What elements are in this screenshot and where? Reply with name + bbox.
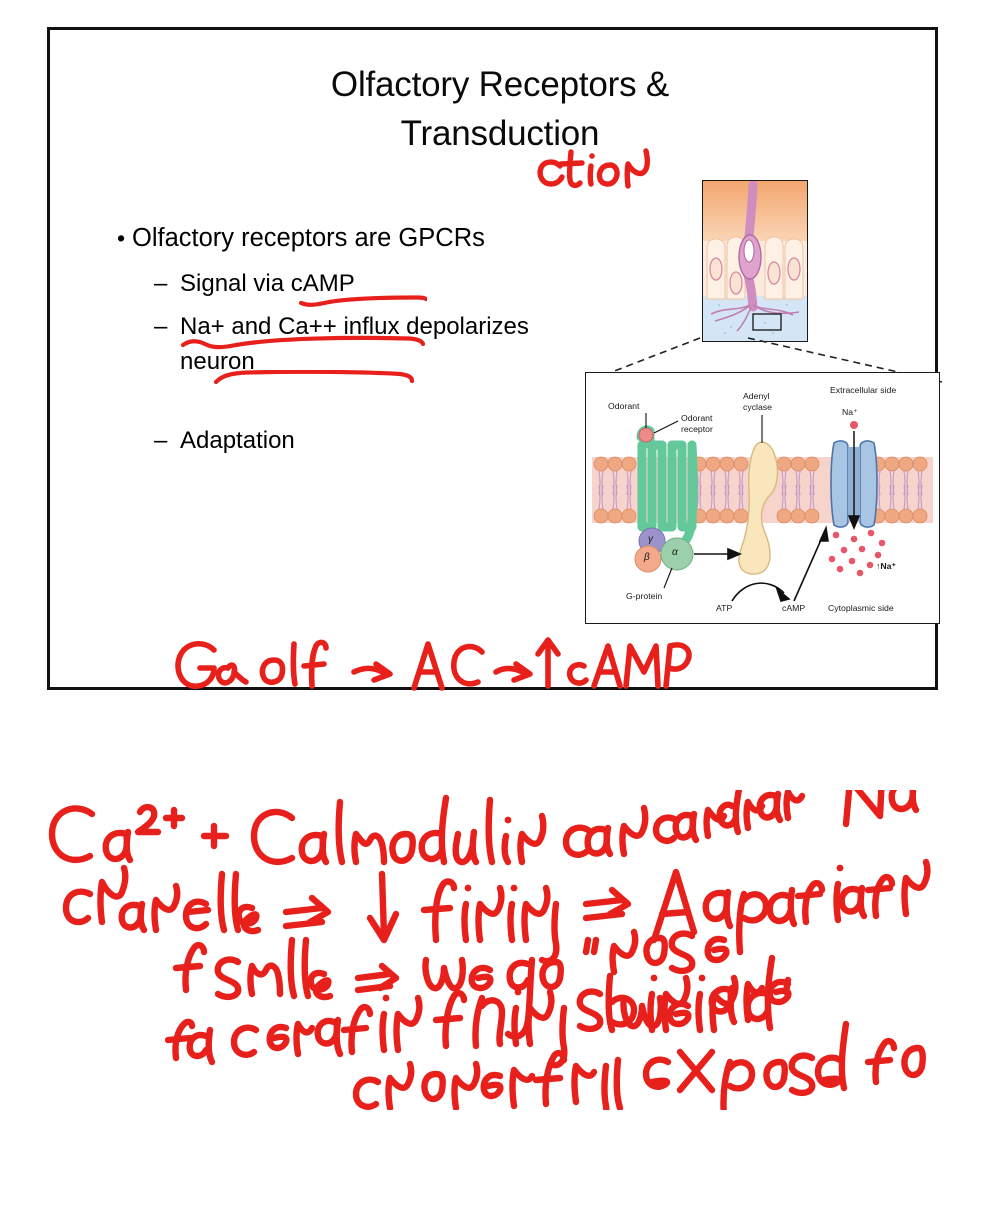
label-odorant-receptor-line2: receptor bbox=[681, 424, 713, 435]
label-g-protein: G-protein bbox=[626, 591, 662, 602]
label-atp: ATP bbox=[716, 603, 732, 614]
bullet-marker-icon: – bbox=[154, 309, 180, 379]
bullet-marker-icon: – bbox=[154, 423, 180, 458]
label-adenyl-cyclase-line1: Adenyl bbox=[743, 391, 770, 402]
olfactory-epithelium-image bbox=[702, 180, 808, 342]
bullet-item-influx: – Na+ and Ca++ influx depolarizes neuron bbox=[154, 309, 540, 379]
label-sodium-influx: ↑Na⁺ bbox=[876, 561, 896, 572]
bullet-list: • Olfactory receptors are GPCRs – Signal… bbox=[110, 220, 540, 458]
label-sodium: Na⁺ bbox=[842, 407, 858, 418]
label-gamma-subunit: γ bbox=[648, 535, 653, 546]
label-extracellular-side: Extracellular side bbox=[830, 385, 896, 396]
label-beta-subunit: β bbox=[644, 553, 650, 564]
slide-frame: Olfactory Receptors & Transduction • Olf… bbox=[47, 27, 938, 690]
bullet-text: Adaptation bbox=[180, 423, 540, 458]
bullet-item-camp: – Signal via cAMP bbox=[154, 266, 540, 301]
bullet-item-adaptation: – Adaptation bbox=[154, 423, 540, 458]
bullet-marker-icon: • bbox=[110, 220, 132, 256]
label-camp: cAMP bbox=[782, 603, 805, 614]
bullet-item-gpcrs: • Olfactory receptors are GPCRs bbox=[110, 220, 540, 256]
ink-note-slide bbox=[170, 630, 730, 712]
bullet-marker-icon: – bbox=[154, 266, 180, 301]
bullet-text: Signal via cAMP bbox=[180, 266, 540, 301]
title-line-2: Transduction bbox=[200, 109, 800, 158]
label-alpha-subunit: α bbox=[672, 548, 678, 559]
label-adenyl-cyclase-line2: cyclase bbox=[743, 402, 772, 413]
label-odorant-receptor-line1: Odorant bbox=[681, 413, 712, 424]
title-line-1: Olfactory Receptors & bbox=[200, 60, 800, 109]
bullet-text: Na+ and Ca++ influx depolarizes neuron bbox=[180, 309, 540, 379]
transduction-diagram: Odorant Odorant receptor Adenyl cyclase … bbox=[585, 372, 940, 624]
label-odorant: Odorant bbox=[608, 401, 639, 412]
bullet-text: Olfactory receptors are GPCRs bbox=[132, 220, 540, 256]
ink-note-bottom bbox=[40, 790, 950, 1110]
slide-title: Olfactory Receptors & Transduction bbox=[200, 60, 800, 158]
label-cytoplasmic-side: Cytoplasmic side bbox=[828, 603, 894, 614]
